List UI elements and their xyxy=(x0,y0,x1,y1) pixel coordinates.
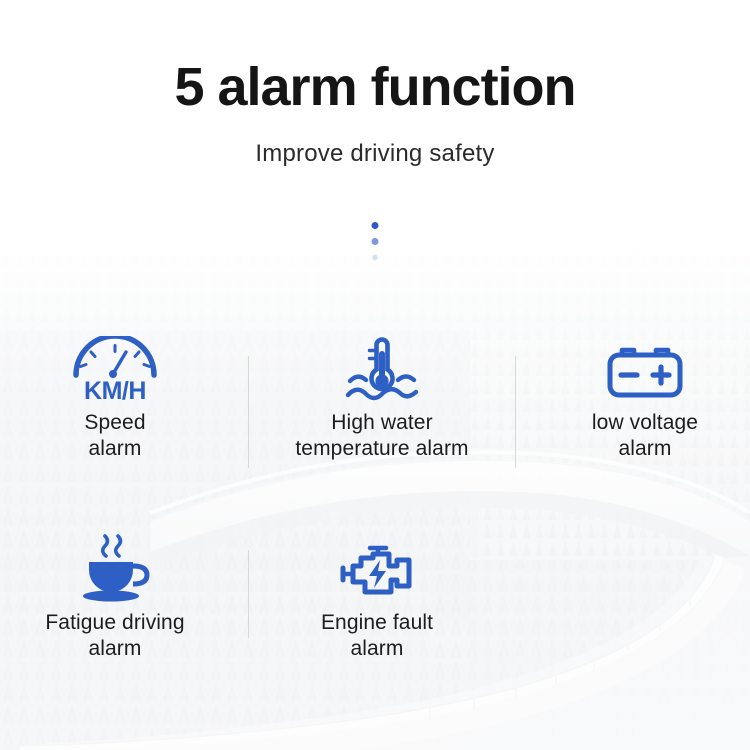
feature-grid: KM/H Speed alarm xyxy=(0,338,750,688)
feature-label-high-water-temperature-alarm: High water temperature alarm xyxy=(262,410,502,461)
feature-row-2: Fatigue driving alarm xyxy=(0,538,750,688)
coffee-cup-icon xyxy=(73,534,157,604)
speedometer-icon-wrap: KM/H xyxy=(15,338,215,404)
engine-fault-icon-wrap xyxy=(272,538,482,604)
feature-low-voltage-alarm: low voltage alarm xyxy=(545,338,745,461)
feature-fatigue-driving-alarm: Fatigue driving alarm xyxy=(15,538,215,661)
row1-divider-left xyxy=(248,356,249,468)
feature-row-1: KM/H Speed alarm xyxy=(0,338,750,488)
feature-high-water-temperature-alarm: High water temperature alarm xyxy=(262,338,502,461)
row2-divider xyxy=(248,550,249,638)
dot-1 xyxy=(372,222,379,229)
battery-icon-wrap xyxy=(545,338,745,404)
speedometer-unit-label: KM/H xyxy=(84,379,146,404)
feature-speed-alarm: KM/H Speed alarm xyxy=(15,338,215,461)
scroll-hint-dots xyxy=(372,222,379,261)
subtitle-wrap: Improve driving safety xyxy=(0,140,750,168)
header: 5 alarm function xyxy=(0,60,750,114)
page-title: 5 alarm function xyxy=(0,60,750,114)
thermometer-water-icon xyxy=(336,336,428,404)
engine-fault-icon xyxy=(331,538,423,604)
dot-2 xyxy=(372,238,379,245)
feature-label-speed-alarm: Speed alarm xyxy=(15,410,215,461)
row1-divider-right xyxy=(515,356,516,468)
feature-label-engine-fault-alarm: Engine fault alarm xyxy=(272,610,482,661)
feature-engine-fault-alarm: Engine fault alarm xyxy=(272,538,482,661)
thermometer-water-icon-wrap xyxy=(262,338,502,404)
promo-banner: 5 alarm function Improve driving safety xyxy=(0,0,750,750)
battery-icon xyxy=(602,342,688,404)
dot-3 xyxy=(372,254,379,261)
feature-label-low-voltage-alarm: low voltage alarm xyxy=(545,410,745,461)
page-subtitle: Improve driving safety xyxy=(0,140,750,168)
coffee-cup-icon-wrap xyxy=(15,538,215,604)
speedometer-icon xyxy=(69,336,161,378)
feature-label-fatigue-driving-alarm: Fatigue driving alarm xyxy=(15,610,215,661)
